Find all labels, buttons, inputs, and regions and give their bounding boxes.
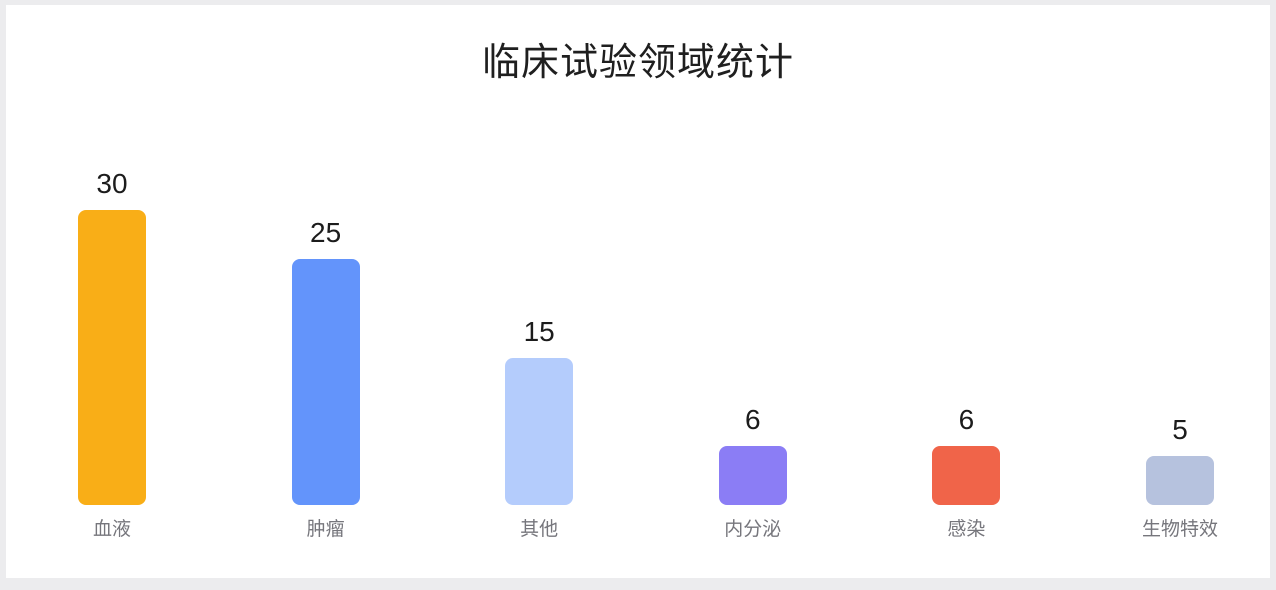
bar-rect[interactable]	[292, 259, 360, 505]
bar-group[interactable]: 30血液	[78, 5, 146, 578]
bar-value-label: 25	[310, 217, 341, 249]
bar-rect[interactable]	[78, 210, 146, 505]
bar-rect[interactable]	[505, 358, 573, 506]
bar-category-label: 肿瘤	[307, 517, 345, 543]
bar-category-label: 内分泌	[724, 517, 781, 543]
bar-rect[interactable]	[719, 446, 787, 505]
bar-group[interactable]: 6内分泌	[719, 5, 787, 578]
bar-value-label: 15	[524, 316, 555, 348]
bar-rect[interactable]	[932, 446, 1000, 505]
bar-chart-plot-area: 30血液25肿瘤15其他6内分泌6感染5生物特效	[6, 5, 1270, 578]
bar-category-label: 感染	[947, 517, 985, 543]
bar-group[interactable]: 6感染	[932, 5, 1000, 578]
bar-group[interactable]: 25肿瘤	[292, 5, 360, 578]
bar-category-label: 血液	[93, 517, 131, 543]
bar-rect[interactable]	[1146, 456, 1214, 505]
bar-value-label: 5	[1172, 414, 1188, 446]
bar-value-label: 6	[745, 404, 761, 436]
bar-value-label: 30	[96, 168, 127, 200]
bar-category-label: 生物特效	[1142, 517, 1218, 543]
bar-category-label: 其他	[520, 517, 558, 543]
bar-group[interactable]: 5生物特效	[1146, 5, 1214, 578]
bar-value-label: 6	[959, 404, 975, 436]
bar-group[interactable]: 15其他	[505, 5, 573, 578]
chart-card: 临床试验领域统计 30血液25肿瘤15其他6内分泌6感染5生物特效	[6, 5, 1270, 578]
